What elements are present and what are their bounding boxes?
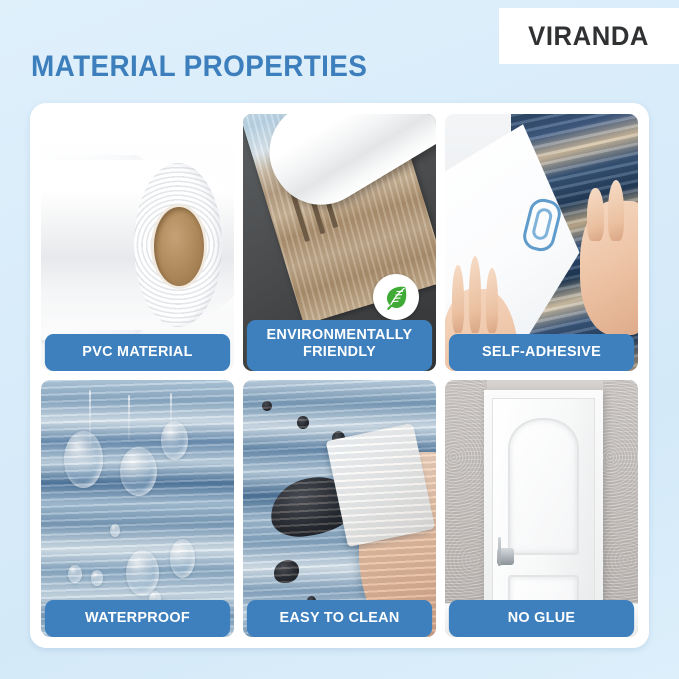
- eco-badge: [373, 274, 419, 320]
- stain-mark: [266, 472, 358, 540]
- wall-texture: [445, 380, 487, 637]
- feature-card-easy-to-clean[interactable]: EASY TO CLEAN: [243, 380, 436, 637]
- cleaning-cloth: [325, 423, 434, 547]
- feature-card-no-glue[interactable]: NO GLUE: [445, 380, 638, 637]
- wall-texture: [603, 380, 638, 637]
- wall-right: [603, 380, 638, 637]
- feature-card-environmentally-friendly[interactable]: ENVIRONMENTALLY FRIENDLY: [243, 114, 436, 371]
- page-title: MATERIAL PROPERTIES: [31, 50, 367, 84]
- feature-label-self-adhesive: SELF-ADHESIVE: [449, 334, 634, 371]
- brand-name: VIRANDA: [529, 21, 650, 52]
- water-droplet: [68, 565, 82, 583]
- stain-mark: [274, 560, 299, 583]
- self-adhesive-image: [445, 114, 638, 371]
- stain-mark: [297, 416, 309, 429]
- water-droplet: [110, 524, 120, 537]
- feature-label-easy-to-clean: EASY TO CLEAN: [247, 600, 432, 637]
- water-droplet: [120, 447, 157, 496]
- water-streak: [128, 395, 130, 441]
- feature-card-waterproof[interactable]: WATERPROOF: [41, 380, 234, 637]
- finger: [469, 256, 481, 334]
- pvc-roll-core: [154, 207, 204, 287]
- header: VIRANDA MATERIAL PROPERTIES: [0, 0, 679, 100]
- stain-mark: [262, 401, 272, 411]
- pvc-roll-image: [41, 114, 234, 371]
- feature-label-waterproof: WATERPROOF: [45, 600, 230, 637]
- feature-label-environmentally-friendly: ENVIRONMENTALLY FRIENDLY: [247, 320, 432, 371]
- water-droplet: [126, 550, 159, 596]
- water-droplet: [91, 570, 103, 585]
- easy-to-clean-image: [243, 380, 436, 637]
- finger: [452, 265, 464, 334]
- no-glue-door-image: [445, 380, 638, 637]
- stain-mark: [332, 431, 346, 446]
- water-streak: [89, 390, 91, 447]
- feature-panel: PVC MATERIAL: [30, 103, 649, 648]
- finger: [608, 180, 624, 241]
- feature-card-pvc-material[interactable]: PVC MATERIAL: [41, 114, 234, 371]
- right-hand: [580, 201, 638, 335]
- door-panel-upper: [508, 418, 579, 555]
- door-handle: [497, 548, 514, 565]
- water-droplet: [170, 539, 195, 578]
- water-droplet: [161, 421, 188, 460]
- finger: [587, 188, 603, 241]
- feature-label-no-glue: NO GLUE: [449, 600, 634, 637]
- feature-card-self-adhesive[interactable]: SELF-ADHESIVE: [445, 114, 638, 371]
- brand-logo-badge: VIRANDA: [499, 8, 679, 64]
- leaf-icon: [382, 283, 410, 311]
- water-droplet: [64, 431, 103, 488]
- finger: [486, 268, 498, 334]
- wall-left: [445, 380, 487, 637]
- water-streak: [170, 393, 172, 434]
- feature-label-pvc-material: PVC MATERIAL: [45, 334, 230, 371]
- feature-grid: PVC MATERIAL: [41, 114, 638, 637]
- waterproof-image: [41, 380, 234, 637]
